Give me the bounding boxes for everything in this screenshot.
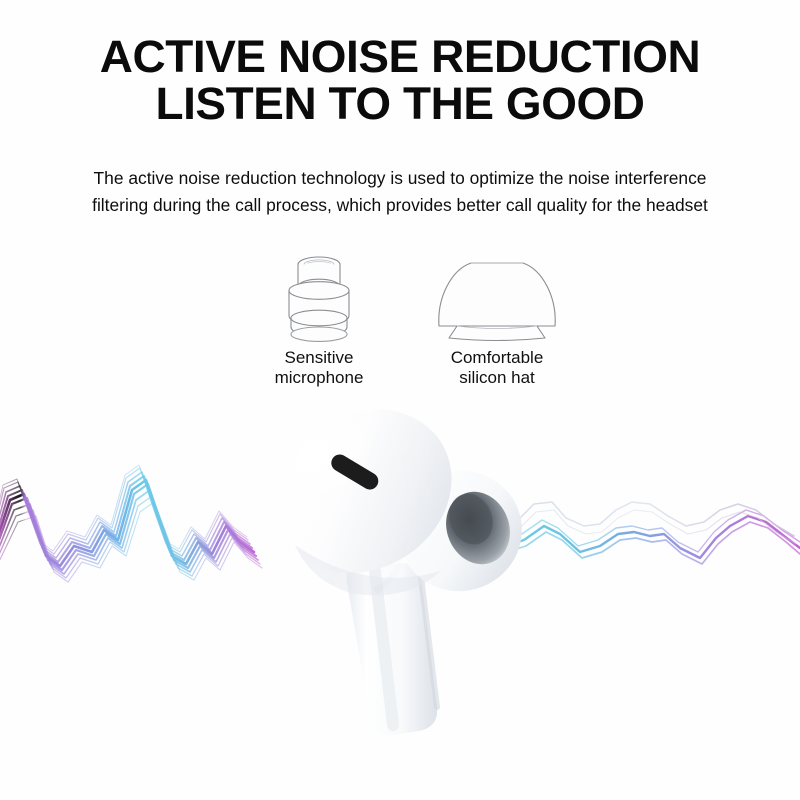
headline-line-1: ACTIVE NOISE REDUCTION <box>0 34 800 79</box>
feature-comfortable-silicon-hat: Comfortable silicon hat <box>406 250 588 388</box>
page-title: ACTIVE NOISE REDUCTION LISTEN TO THE GOO… <box>0 34 800 126</box>
description-paragraph: The active noise reduction technology is… <box>64 165 736 219</box>
wireless-earbud-image <box>255 395 545 755</box>
feature-sensitive-microphone: Sensitive microphone <box>232 250 406 388</box>
microphone-capsule-icon <box>232 250 406 342</box>
feature-label-silicon-hat: Comfortable silicon hat <box>406 348 588 388</box>
silicone-ear-tip-icon <box>406 250 588 342</box>
feature-label-microphone: Sensitive microphone <box>232 348 406 388</box>
headline-line-2: LISTEN TO THE GOOD <box>0 81 800 126</box>
feature-callout-row: Sensitive microphone Comfortable silic <box>0 250 800 395</box>
product-infographic-page: ACTIVE NOISE REDUCTION LISTEN TO THE GOO… <box>0 0 800 800</box>
